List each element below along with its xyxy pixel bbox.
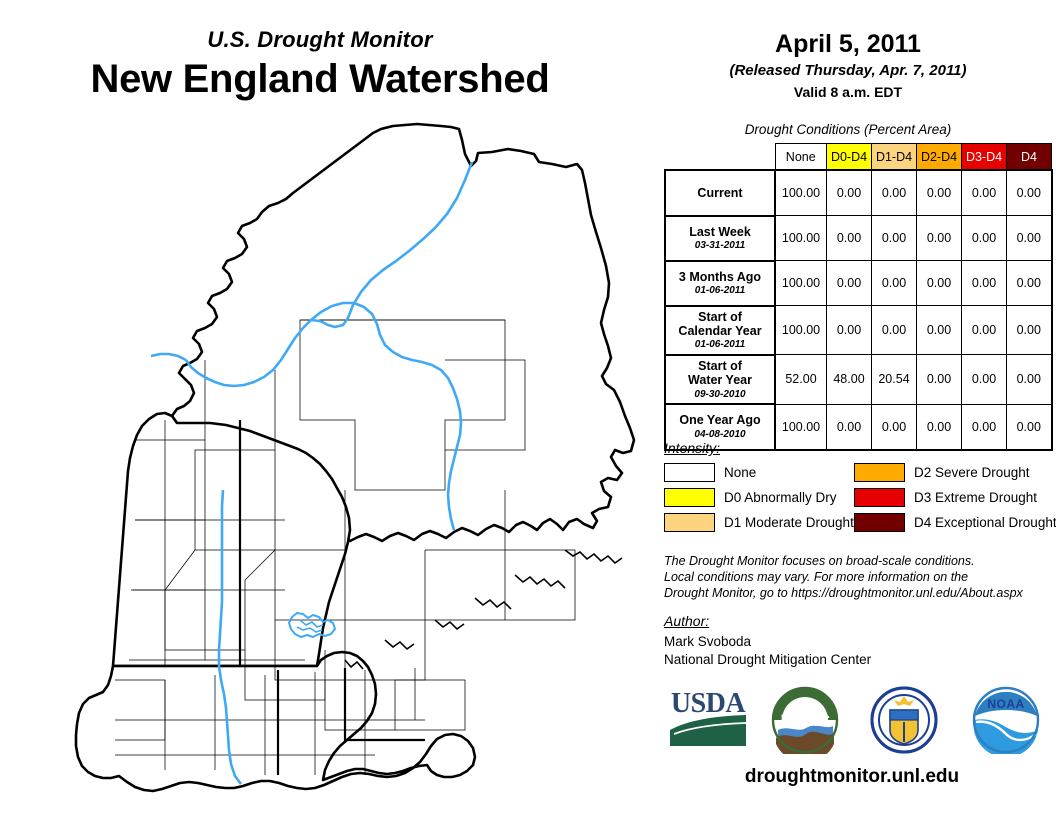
- usda-logo: USDA: [666, 686, 750, 752]
- table-cell: 48.00: [827, 355, 872, 404]
- table-caption: Drought Conditions (Percent Area): [648, 122, 1048, 137]
- date-block: April 5, 2011 (Released Thursday, Apr. 7…: [648, 30, 1048, 101]
- table-cell: 0.00: [962, 261, 1007, 306]
- table-cell: 0.00: [872, 170, 917, 216]
- table-cell: 0.00: [962, 306, 1007, 355]
- table-cell: 0.00: [872, 306, 917, 355]
- legend-swatch: [854, 513, 905, 532]
- ndmc-logo: NDMC: [770, 686, 840, 754]
- column-header-d3-d4: D3-D4: [962, 144, 1007, 171]
- column-header-d0-d4: D0-D4: [827, 144, 872, 171]
- disclaimer-line-2: Local conditions may vary. For more info…: [664, 569, 1049, 585]
- disclaimer-line-3: Drought Monitor, go to https://droughtmo…: [664, 585, 1049, 601]
- svg-text:NOAA: NOAA: [987, 697, 1024, 711]
- table-header: NoneD0-D4D1-D4D2-D4D3-D4D4: [665, 144, 1052, 171]
- table-cell: 0.00: [1007, 355, 1052, 404]
- legend-swatch: [664, 488, 715, 507]
- valid-time: Valid 8 a.m. EDT: [648, 84, 1048, 101]
- row-label-text: Current: [668, 186, 772, 200]
- row-label-text: One Year Ago: [668, 413, 772, 427]
- legend-item: D4 Exceptional Drought: [854, 513, 1054, 532]
- table-cell: 0.00: [1007, 306, 1052, 355]
- row-label-text: Start of: [668, 310, 772, 324]
- table-cell: 0.00: [827, 261, 872, 306]
- release-date: (Released Thursday, Apr. 7, 2011): [648, 62, 1048, 80]
- row-label: Last Week03-31-2011: [665, 216, 775, 261]
- row-label-date: 04-08-2010: [668, 429, 772, 441]
- table-cell: 52.00: [775, 355, 827, 404]
- drought-conditions-table: NoneD0-D4D1-D4D2-D4D3-D4D4 Current100.00…: [664, 143, 1053, 451]
- row-label-text: Last Week: [668, 225, 772, 239]
- author-label: Author:: [664, 613, 1049, 629]
- map-date: April 5, 2011: [648, 30, 1048, 59]
- column-header-d1-d4: D1-D4: [872, 144, 917, 171]
- row-label: Start ofWater Year09-30-2010: [665, 355, 775, 404]
- table-cell: 0.00: [917, 216, 962, 261]
- table-cell: 0.00: [827, 306, 872, 355]
- table-cell: 0.00: [917, 355, 962, 404]
- row-label: Current: [665, 170, 775, 216]
- commerce-seal-logo: [870, 686, 938, 754]
- table-body: Current100.000.000.000.000.000.00Last We…: [665, 170, 1052, 450]
- row-label-text: 3 Months Ago: [668, 270, 772, 284]
- disclaimer-text: The Drought Monitor focuses on broad-sca…: [664, 553, 1049, 601]
- legend-label: D1 Moderate Drought: [724, 515, 854, 530]
- table-cell: 100.00: [775, 170, 827, 216]
- table-row: Start ofCalendar Year01-06-2011100.000.0…: [665, 306, 1052, 355]
- map-coastline-detail: [345, 550, 622, 669]
- page-title: New England Watershed: [0, 56, 640, 102]
- table-row: 3 Months Ago01-06-2011100.000.000.000.00…: [665, 261, 1052, 306]
- author-name: Mark Svoboda: [664, 633, 1049, 651]
- intensity-legend-title: Intensity:: [664, 440, 1056, 456]
- column-header-d2-d4: D2-D4: [917, 144, 962, 171]
- row-label-date: 01-06-2011: [668, 285, 772, 297]
- legend-item: D3 Extreme Drought: [854, 488, 1054, 507]
- disclaimer-line-1: The Drought Monitor focuses on broad-sca…: [664, 553, 1049, 569]
- table-cell: 0.00: [1007, 170, 1052, 216]
- row-label-text: Calendar Year: [668, 324, 772, 338]
- drought-map: [45, 120, 645, 800]
- legend-swatch: [854, 463, 905, 482]
- legend-item: D0 Abnormally Dry: [664, 488, 854, 507]
- table-cell: 0.00: [827, 216, 872, 261]
- legend-label: D3 Extreme Drought: [914, 490, 1037, 505]
- table-cell: 100.00: [775, 261, 827, 306]
- row-label-text: Water Year: [668, 373, 772, 387]
- table-cell: 20.54: [872, 355, 917, 404]
- title-block: U.S. Drought Monitor New England Watersh…: [0, 28, 640, 102]
- row-label-date: 01-06-2011: [668, 339, 772, 351]
- row-label-text: Start of: [668, 359, 772, 373]
- table-cell: 0.00: [962, 355, 1007, 404]
- table-row: Start ofWater Year09-30-201052.0048.0020…: [665, 355, 1052, 404]
- legend-label: D2 Severe Drought: [914, 465, 1030, 480]
- legend-swatch: [664, 463, 715, 482]
- corner-cell: [665, 144, 775, 171]
- table-cell: 0.00: [917, 306, 962, 355]
- legend-label: D4 Exceptional Drought: [914, 515, 1056, 530]
- table-row: Last Week03-31-2011100.000.000.000.000.0…: [665, 216, 1052, 261]
- website-url[interactable]: droughtmonitor.unl.edu: [648, 766, 1056, 788]
- table-row: Current100.000.000.000.000.000.00: [665, 170, 1052, 216]
- row-label-date: 03-31-2011: [668, 240, 772, 252]
- author-affiliation: National Drought Mitigation Center: [664, 651, 1049, 669]
- right-panel: April 5, 2011 (Released Thursday, Apr. 7…: [648, 0, 1056, 816]
- legend-swatch: [854, 488, 905, 507]
- legend-label: D0 Abnormally Dry: [724, 490, 837, 505]
- legend-swatch: [664, 513, 715, 532]
- table-cell: 0.00: [872, 216, 917, 261]
- table-cell: 0.00: [872, 261, 917, 306]
- table-header-row: NoneD0-D4D1-D4D2-D4D3-D4D4: [665, 144, 1052, 171]
- legend-label: None: [724, 465, 756, 480]
- legend-item: D2 Severe Drought: [854, 463, 1054, 482]
- table-cell: 0.00: [827, 170, 872, 216]
- table-cell: 0.00: [917, 170, 962, 216]
- noaa-logo: NOAA: [970, 686, 1042, 754]
- row-label: Start ofCalendar Year01-06-2011: [665, 306, 775, 355]
- table-cell: 0.00: [1007, 216, 1052, 261]
- table-cell: 0.00: [1007, 261, 1052, 306]
- author-block: Author: Mark Svoboda National Drought Mi…: [664, 613, 1049, 669]
- table-cell: 100.00: [775, 306, 827, 355]
- legend-item: None: [664, 463, 854, 482]
- row-label-date: 09-30-2010: [668, 389, 772, 401]
- column-header-none: None: [775, 144, 827, 171]
- table-cell: 0.00: [962, 170, 1007, 216]
- legend-item: D1 Moderate Drought: [664, 513, 854, 532]
- organization-subtitle: U.S. Drought Monitor: [0, 28, 640, 52]
- map-svg: [45, 120, 645, 800]
- row-label: 3 Months Ago01-06-2011: [665, 261, 775, 306]
- table-cell: 0.00: [917, 261, 962, 306]
- table-cell: 100.00: [775, 216, 827, 261]
- column-header-d4: D4: [1007, 144, 1052, 171]
- table-cell: 0.00: [962, 216, 1007, 261]
- legend-grid: NoneD2 Severe DroughtD0 Abnormally DryD3…: [664, 463, 1056, 532]
- logo-row: USDA NDMC NOAA: [658, 686, 1056, 758]
- svg-text:USDA: USDA: [671, 688, 747, 719]
- intensity-legend: Intensity: NoneD2 Severe DroughtD0 Abnor…: [664, 440, 1056, 532]
- svg-text:NDMC: NDMC: [781, 711, 830, 730]
